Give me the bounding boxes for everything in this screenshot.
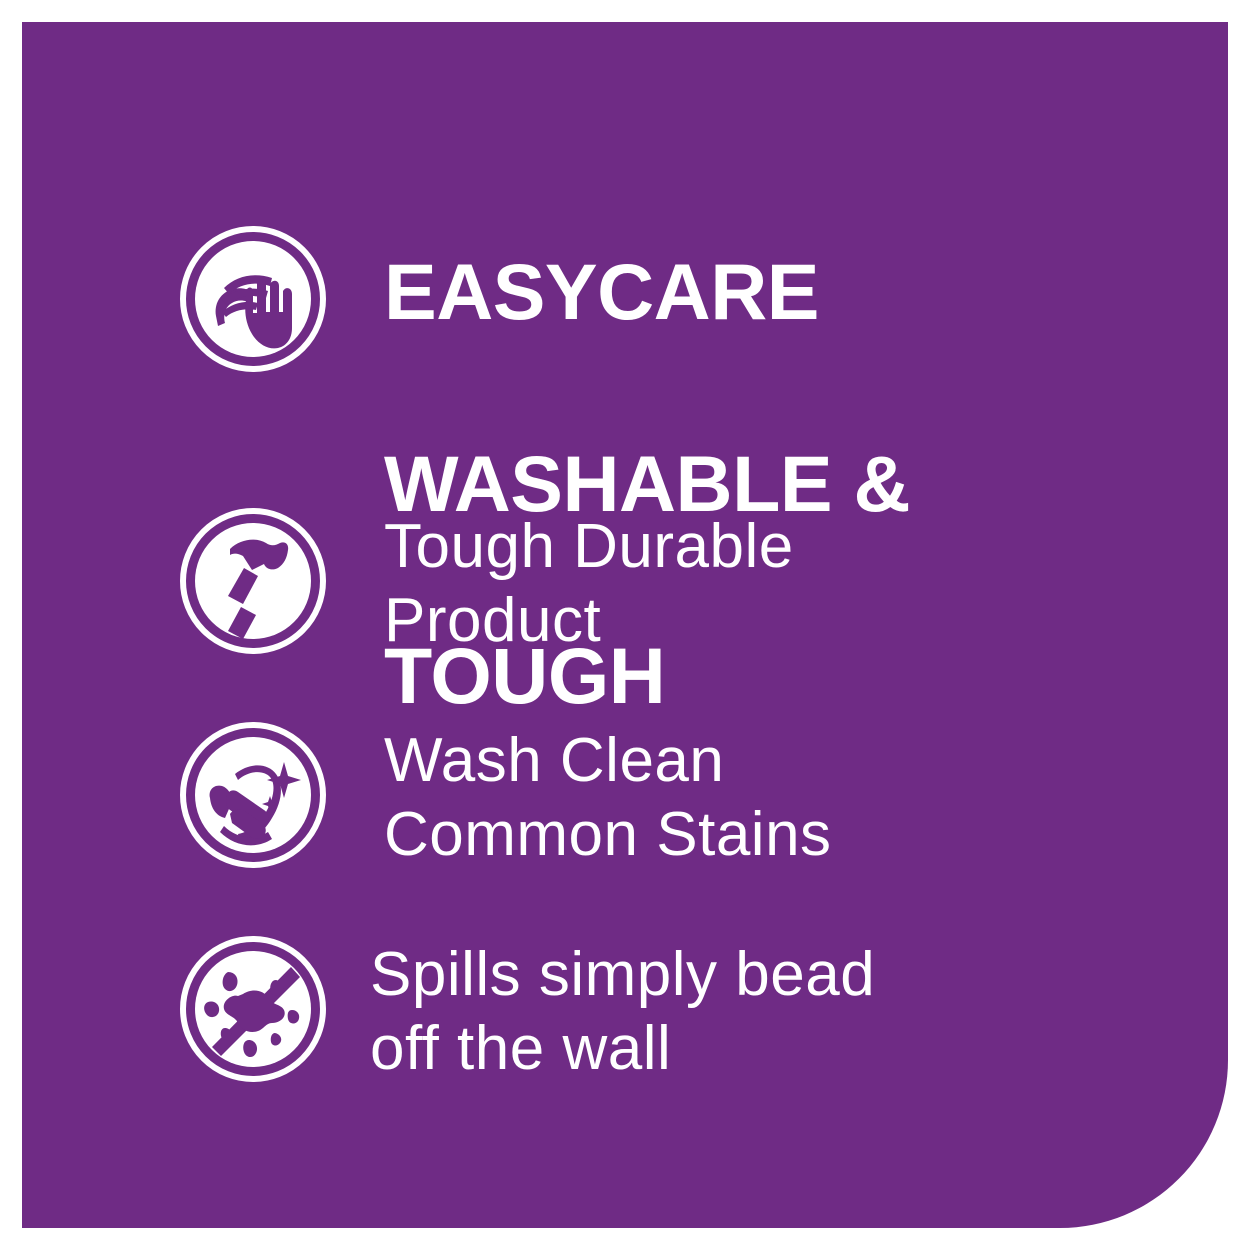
feature-row-tough-durable: Tough Durable Product <box>180 508 1180 658</box>
feature-label-spills-bead: Spills simply bead off the wall <box>370 936 875 1086</box>
feature-label-wash-clean: Wash Clean Common Stains <box>384 722 832 872</box>
feature-row-spills-bead: Spills simply bead off the wall <box>180 936 1180 1086</box>
washing-hands-icon <box>180 226 326 372</box>
hammer-icon <box>180 508 326 654</box>
feature-row-easycare <box>180 226 1180 372</box>
feature-row-wash-clean: Wash Clean Common Stains <box>180 722 1180 872</box>
promo-panel-stage: EASYCARE WASHABLE & TOUGH <box>0 0 1250 1250</box>
wipe-sparkle-icon <box>180 722 326 868</box>
no-splash-icon <box>180 936 326 1082</box>
feature-label-tough-durable: Tough Durable Product <box>384 508 794 658</box>
